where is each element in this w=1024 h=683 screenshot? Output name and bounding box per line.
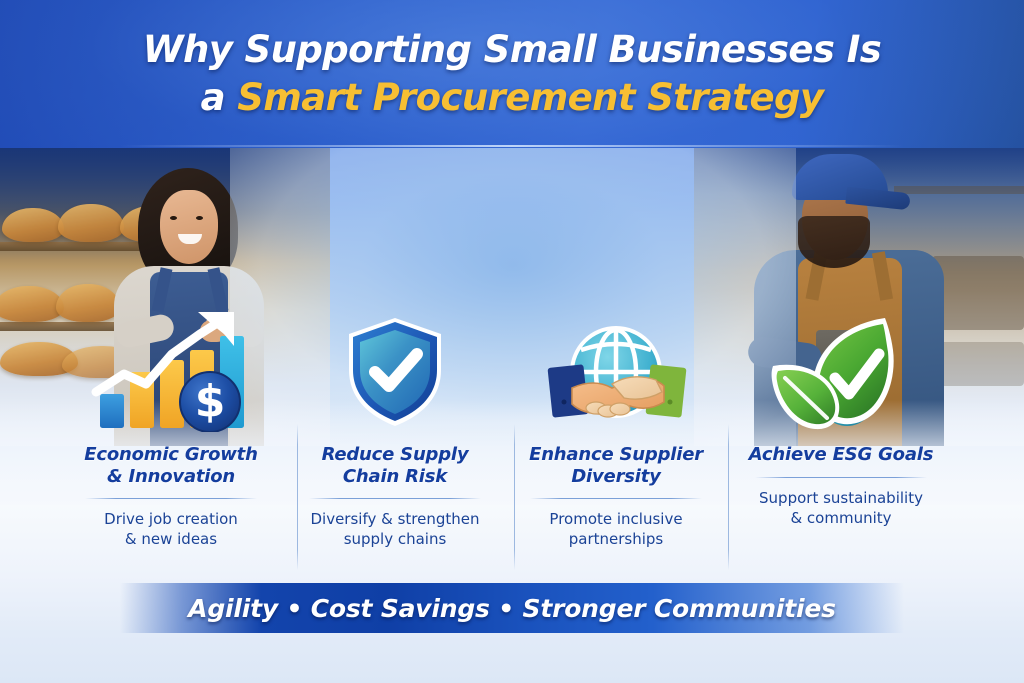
svg-text:$: $	[195, 376, 226, 427]
handshake-globe-icon	[507, 300, 725, 432]
column-title: Reduce Supply Chain Risk	[286, 444, 504, 487]
title-line-2-highlight: Smart Procurement Strategy	[237, 76, 823, 119]
page-title: Why Supporting Small Businesses Is a Sma…	[0, 28, 1024, 119]
column-desc-line-2: & new ideas	[125, 530, 217, 548]
eye-right	[196, 216, 203, 220]
feature-columns: $ Economic Growth & Innovation Drive job…	[0, 300, 1024, 580]
column-title-line-1: Reduce Supply	[322, 444, 469, 465]
column-title-line-1: Enhance Supplier	[529, 444, 703, 465]
column-desc-line-2: partnerships	[569, 530, 664, 548]
column-title-line-1: Economic Growth	[84, 444, 257, 465]
infographic-canvas: Why Supporting Small Businesses Is a Sma…	[0, 0, 1024, 683]
column-desc-line-1: Support sustainability	[759, 489, 923, 507]
column-description: Promote inclusive partnerships	[507, 509, 725, 550]
column-rule	[755, 477, 927, 478]
feature-column-supply-chain-risk[interactable]: Reduce Supply Chain Risk Diversify & str…	[286, 300, 504, 550]
column-desc-line-1: Promote inclusive	[549, 510, 682, 528]
column-rule	[85, 498, 257, 499]
bread-loaf	[2, 208, 64, 242]
header-banner: Why Supporting Small Businesses Is a Sma…	[0, 0, 1024, 148]
face	[160, 190, 218, 264]
banner-text: Agility • Cost Savings • Stronger Commun…	[188, 594, 836, 623]
column-desc-line-1: Drive job creation	[104, 510, 238, 528]
column-title-line-2: & Innovation	[107, 466, 235, 487]
column-title-line-2: Diversity	[571, 466, 660, 487]
feature-column-economic-growth[interactable]: $ Economic Growth & Innovation Drive job…	[62, 300, 280, 550]
column-description: Drive job creation & new ideas	[62, 509, 280, 550]
column-title: Achieve ESG Goals	[732, 444, 950, 466]
title-line-1: Why Supporting Small Businesses Is	[0, 28, 1024, 72]
shield-check-icon	[286, 300, 504, 432]
title-line-2: a Smart Procurement Strategy	[0, 76, 1024, 120]
title-line-2-plain: a	[201, 76, 238, 119]
column-desc-line-2: & community	[790, 509, 891, 527]
bottom-banner: Agility • Cost Savings • Stronger Commun…	[120, 583, 904, 633]
column-title: Enhance Supplier Diversity	[507, 444, 725, 487]
column-description: Support sustainability & community	[732, 488, 950, 529]
column-title-line-2: Chain Risk	[343, 466, 447, 487]
column-title: Economic Growth & Innovation	[62, 444, 280, 487]
feature-column-supplier-diversity[interactable]: Enhance Supplier Diversity Promote inclu…	[507, 300, 725, 550]
feature-column-esg-goals[interactable]: Achieve ESG Goals Support sustainability…	[732, 300, 950, 528]
column-desc-line-1: Diversify & strengthen	[310, 510, 479, 528]
leaf-check-icon	[732, 300, 950, 432]
column-description: Diversify & strengthen supply chains	[286, 509, 504, 550]
column-rule	[530, 498, 702, 499]
column-rule	[309, 498, 481, 499]
eye-left	[170, 216, 177, 220]
growth-chart-dollar-icon: $	[62, 300, 280, 432]
column-title-line-1: Achieve ESG Goals	[749, 444, 934, 465]
column-desc-line-2: supply chains	[344, 530, 447, 548]
beard	[798, 216, 870, 268]
